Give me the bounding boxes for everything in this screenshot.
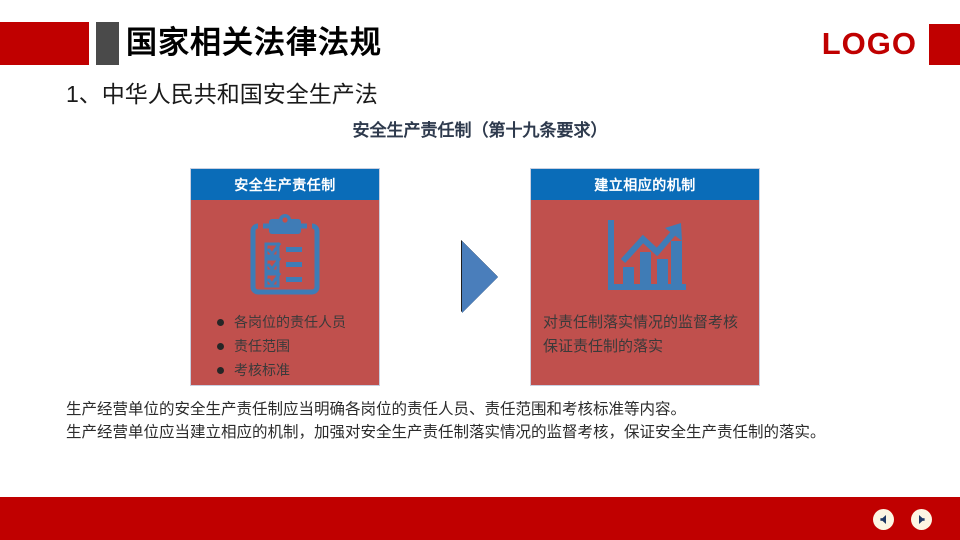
page-title: 国家相关法律法规 <box>126 21 382 65</box>
body-paragraph-line-2: 生产经营单位应当建立相应的机制，加强对安全生产责任制落实情况的监督考核，保证安全… <box>66 421 906 444</box>
list-item: 考核标准 <box>217 358 379 382</box>
body-paragraph: 生产经营单位的安全生产责任制应当明确各岗位的责任人员、责任范围和考核标准等内容。… <box>66 398 906 444</box>
body-paragraph-line-1: 生产经营单位的安全生产责任制应当明确各岗位的责任人员、责任范围和考核标准等内容。 <box>66 398 906 421</box>
list-item: 各岗位的责任人员 <box>217 310 379 334</box>
logo-red-square <box>929 24 960 65</box>
list-item: 责任范围 <box>217 334 379 358</box>
card-body: 各岗位的责任人员 责任范围 考核标准 <box>191 200 379 385</box>
clipboard-checklist-icon <box>191 200 379 300</box>
sub-heading: 安全生产责任制（第十九条要求） <box>0 119 960 143</box>
slide-canvas: 国家相关法律法规 LOGO 1、中华人民共和国安全生产法 安全生产责任制（第十九… <box>0 0 960 540</box>
arrow-right-icon <box>916 514 927 525</box>
header-red-accent-block <box>0 22 89 65</box>
right-arrow-shape <box>462 241 498 313</box>
next-slide-button[interactable] <box>911 509 932 530</box>
card-body: 对责任制落实情况的监督考核保证责任制的落实 <box>531 200 759 385</box>
arrow-left-icon <box>878 514 889 525</box>
card-header-label: 建立相应的机制 <box>531 169 759 200</box>
card-safety-responsibility: 安全生产责任制 <box>190 168 380 386</box>
header-gray-accent-block <box>96 22 119 65</box>
card-bullet-list: 各岗位的责任人员 责任范围 考核标准 <box>191 310 379 382</box>
card-header-label: 安全生产责任制 <box>191 169 379 200</box>
card-description: 对责任制落实情况的监督考核保证责任制的落实 <box>531 297 759 359</box>
logo-text: LOGO <box>822 23 917 65</box>
section-heading: 1、中华人民共和国安全生产法 <box>66 78 378 110</box>
card-establish-mechanism: 建立相应的机制 对责任制落实情况的监督考核保证责任制的落实 <box>530 168 760 386</box>
prev-slide-button[interactable] <box>873 509 894 530</box>
bar-chart-growth-icon <box>531 200 759 297</box>
footer-bar <box>0 497 960 540</box>
